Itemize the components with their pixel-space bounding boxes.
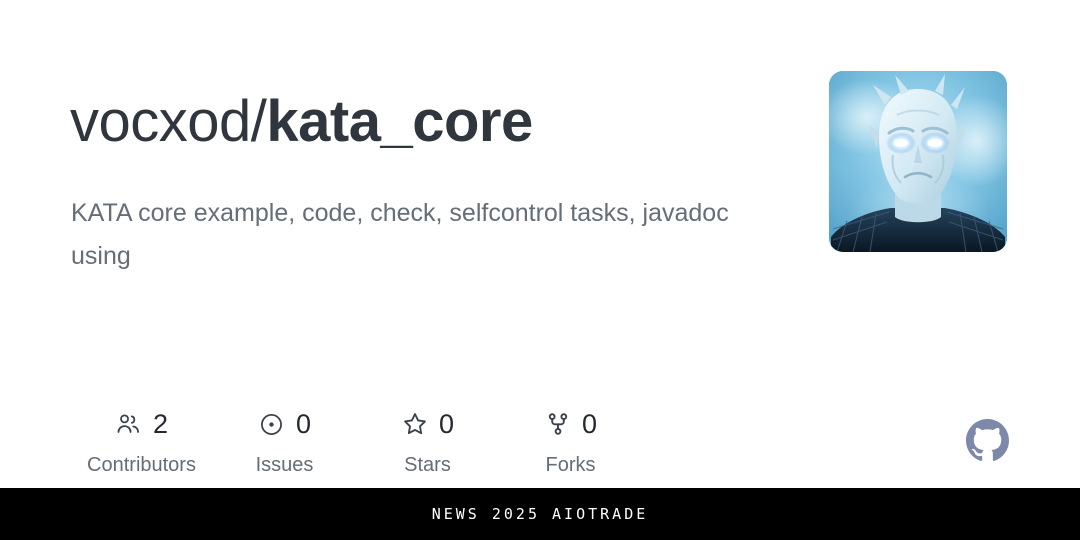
stat-forks-top: 0 <box>544 404 597 444</box>
repo-description: KATA core example, code, check, selfcont… <box>71 192 761 278</box>
repo-card: vocxod/kata_core KATA core example, code… <box>0 0 1080 488</box>
repo-owner[interactable]: vocxod <box>70 89 251 154</box>
stat-forks-value: 0 <box>582 409 597 439</box>
avatar <box>829 71 1007 252</box>
stat-stars-label: Stars <box>404 453 451 477</box>
stat-issues[interactable]: 0 Issues <box>213 404 356 477</box>
github-mark-icon <box>966 419 1009 462</box>
bottom-banner: NEWS 2025 AIOTRADE <box>0 488 1080 540</box>
stat-contributors-label: Contributors <box>87 453 196 477</box>
people-icon <box>115 410 143 438</box>
stat-stars-value: 0 <box>439 409 454 439</box>
repo-separator: / <box>251 89 267 154</box>
stat-contributors[interactable]: 2 Contributors <box>70 404 213 477</box>
stat-stars-top: 0 <box>401 404 454 444</box>
stat-issues-label: Issues <box>256 453 314 477</box>
stat-forks-label: Forks <box>546 453 596 477</box>
stat-contributors-top: 2 <box>115 404 168 444</box>
stat-contributors-value: 2 <box>153 409 168 439</box>
repo-name[interactable]: kata_core <box>266 89 532 154</box>
issue-opened-icon <box>258 410 286 438</box>
stat-stars[interactable]: 0 Stars <box>356 404 499 477</box>
repo-stats: 2 Contributors 0 Issues <box>70 404 642 477</box>
repo-forked-icon <box>544 410 572 438</box>
stat-issues-value: 0 <box>296 409 311 439</box>
stat-issues-top: 0 <box>258 404 311 444</box>
star-icon <box>401 410 429 438</box>
banner-text: NEWS 2025 AIOTRADE <box>432 505 649 523</box>
page-title: vocxod/kata_core <box>70 86 533 158</box>
stat-forks[interactable]: 0 Forks <box>499 404 642 477</box>
